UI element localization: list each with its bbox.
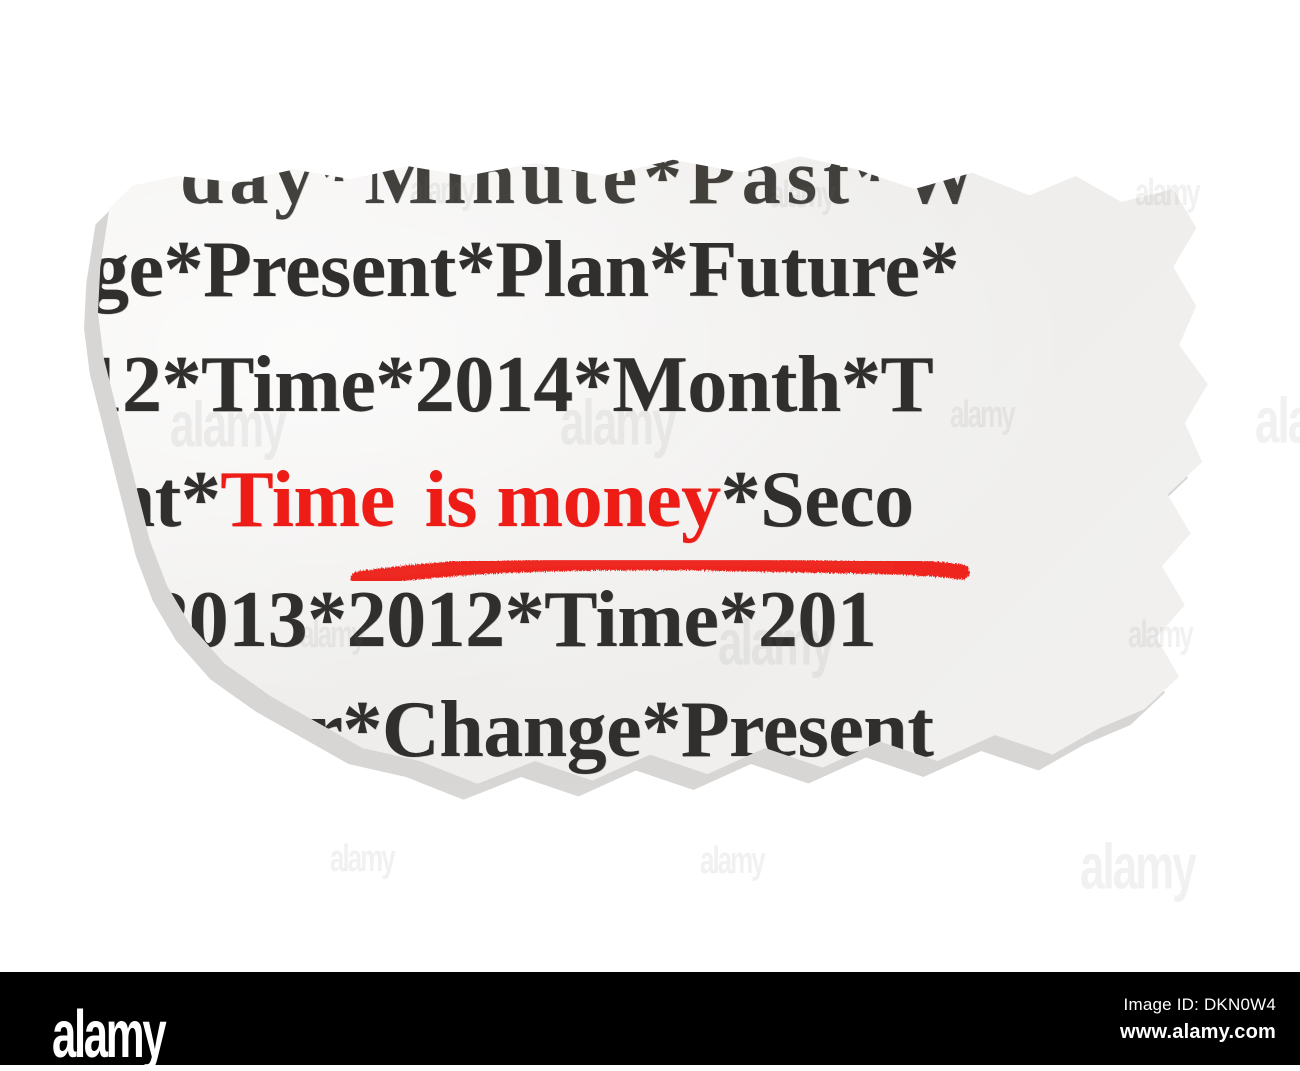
watermark-alamy: alamy [1255, 386, 1300, 459]
torn-paper-scrap: day*Minute*Past*W nge*Present*Plan*Futur… [75, 150, 1225, 800]
highlight-words-is-money: is money [425, 456, 721, 544]
highlight-word-time: Time [220, 456, 394, 544]
alamy-logo: alamy [52, 1000, 164, 1067]
newsprint-line-top-clipped: day*Minute*Past*W [180, 150, 984, 216]
photo-stage: day*Minute*Past*W nge*Present*Plan*Futur… [0, 0, 1300, 972]
highlight-gap [395, 456, 425, 544]
alamy-footer-bar [0, 972, 1300, 1065]
watermark-alamy: alamy [330, 836, 394, 881]
newsprint-line-present-plan-future: nge*Present*Plan*Future* [75, 230, 959, 310]
footer-metadata: Image ID: DKN0W4 www.alamy.com [1120, 996, 1276, 1042]
newsprint-line-time-2014-month: 012*Time*2014*Month*T [75, 345, 933, 425]
alamy-url-label: www.alamy.com [1120, 1022, 1276, 1042]
newsprint-suffix: *Seco [721, 456, 914, 544]
newsprint-prefix: sent* [75, 456, 220, 544]
newsprint-line-highlighted: sent*Time is money*Seco [75, 460, 914, 540]
image-id-label: Image ID: DKN0W4 [1120, 996, 1276, 1013]
watermark-alamy: alamy [1080, 832, 1195, 905]
watermark-alamy: alamy [700, 838, 764, 883]
highlighted-phrase: Time is money [220, 456, 720, 544]
